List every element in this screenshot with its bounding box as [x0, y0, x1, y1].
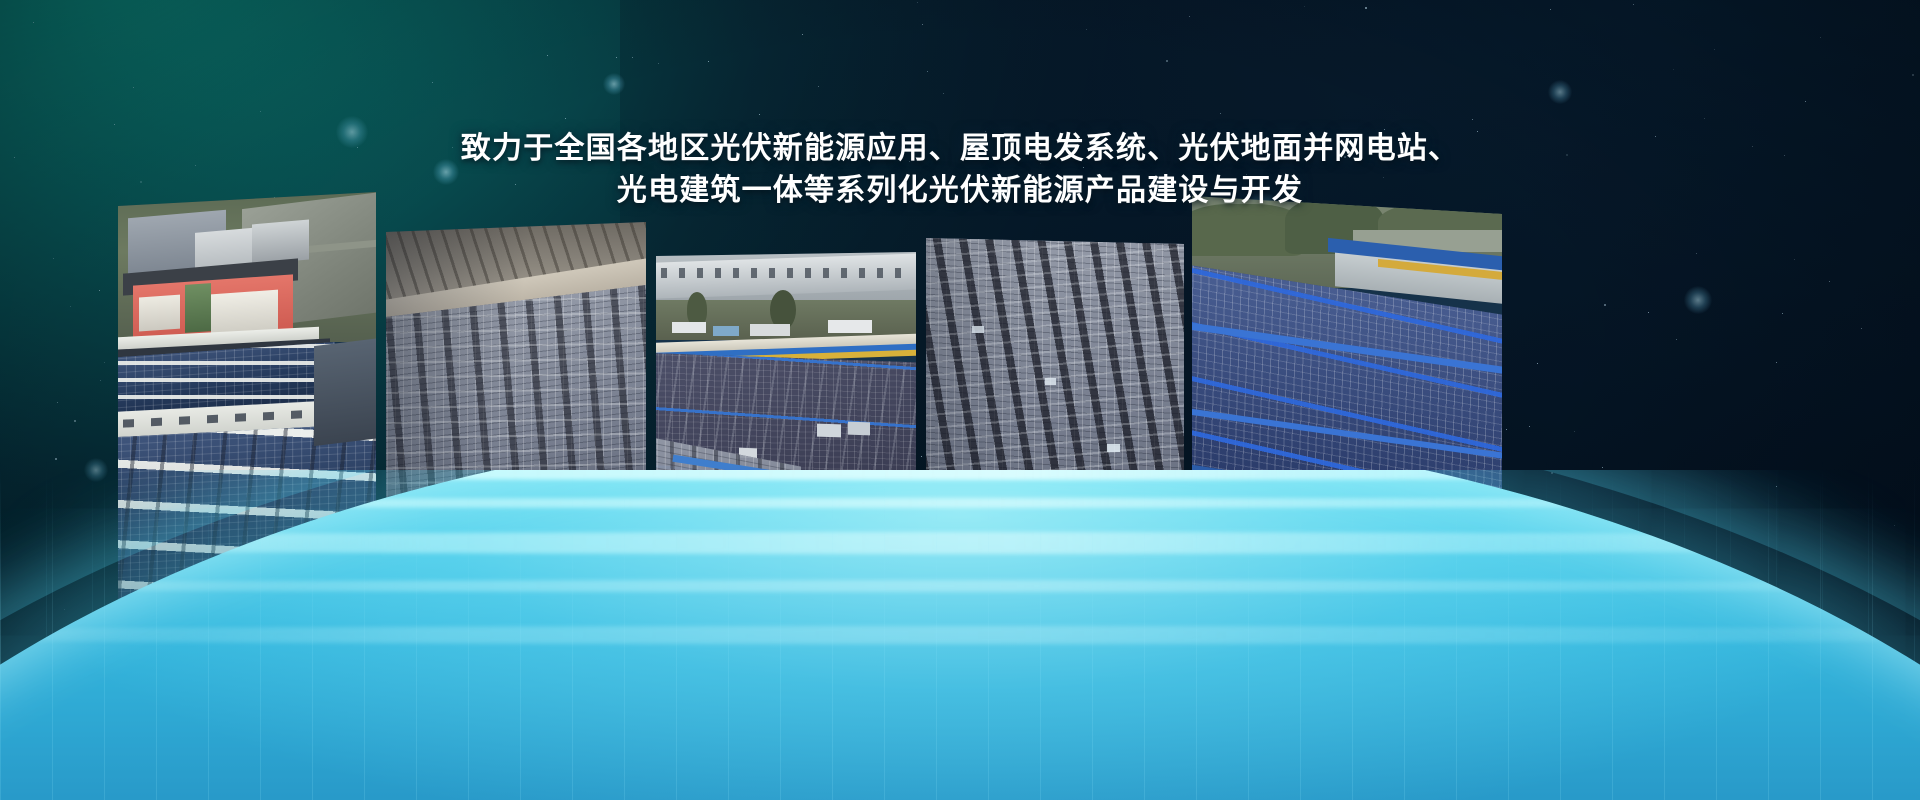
- earth-arc-graphic: [0, 470, 1920, 800]
- light-rays: [0, 470, 1920, 800]
- banner-stage: 致力于全国各地区光伏新能源应用、屋顶电发系统、光伏地面并网电站、 光电建筑一体等…: [0, 0, 1920, 800]
